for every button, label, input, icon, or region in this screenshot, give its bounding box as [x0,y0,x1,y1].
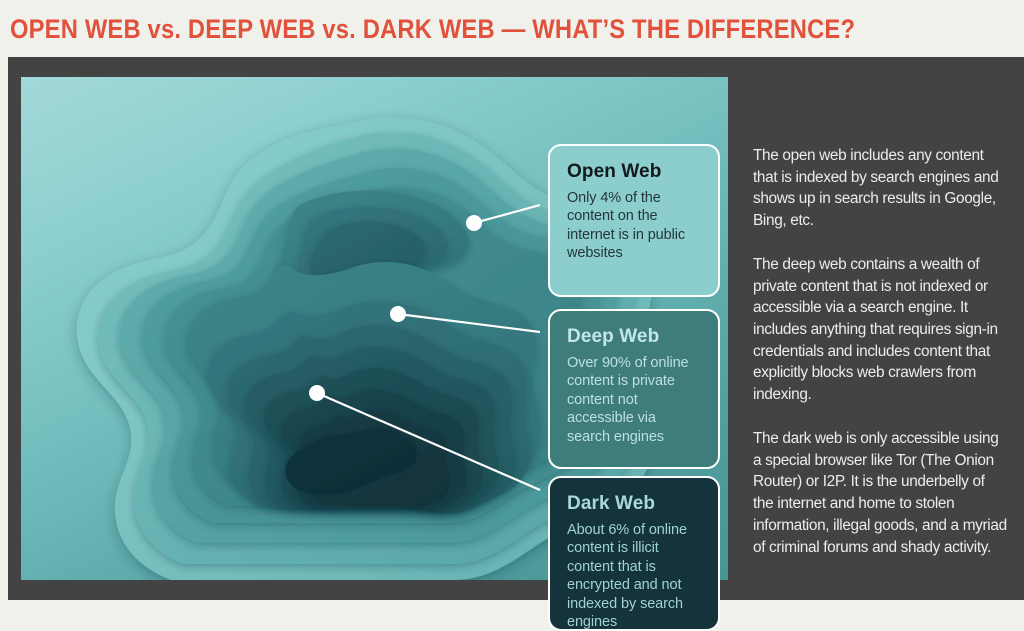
callout-dark-web-heading: Dark Web [567,494,702,514]
callout-deep-web-text: Over 90% of online content is private co… [567,354,702,446]
callout-open-web-heading: Open Web [567,162,702,182]
page-title: OPEN WEB vs. DEEP WEB vs. DARK WEB — WHA… [10,8,890,50]
infographic-panel: Open Web Only 4% of the content on the i… [8,57,1024,600]
paragraph-deep-web: The deep web contains a wealth of privat… [753,254,1008,406]
paragraph-open-web: The open web includes any content that i… [753,145,1008,232]
callout-dark-web-text: About 6% of online content is illicit co… [567,521,702,631]
infographic-page: OPEN WEB vs. DEEP WEB vs. DARK WEB — WHA… [0,0,1024,614]
callout-open-web-text: Only 4% of the content on the internet i… [567,189,702,263]
paragraph-dark-web: The dark web is only accessible using a … [753,428,1008,558]
description-column: The open web includes any content that i… [753,145,1008,558]
callout-deep-web[interactable]: Deep Web Over 90% of online content is p… [548,309,720,469]
callout-deep-web-heading: Deep Web [567,327,702,347]
callout-open-web[interactable]: Open Web Only 4% of the content on the i… [548,144,720,297]
callout-dark-web[interactable]: Dark Web About 6% of online content is i… [548,476,720,631]
